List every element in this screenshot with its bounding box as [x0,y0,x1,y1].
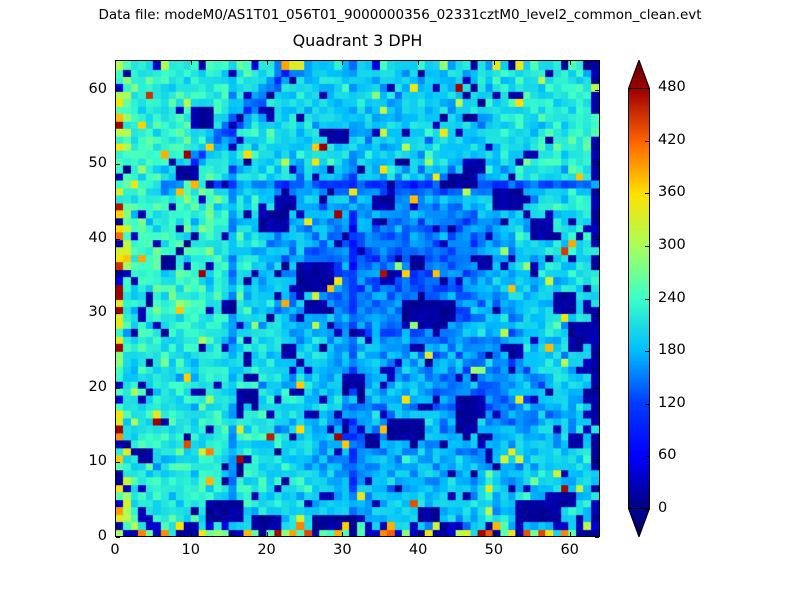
colorbar-tick [645,299,650,300]
colorbar-tick [645,246,650,247]
y-axis-tick-right [595,164,599,165]
x-axis-tick [342,532,343,536]
x-axis-tick-top [570,61,571,65]
colorbar-tick [645,351,650,352]
x-axis-tick-label: 60 [550,543,590,558]
colorbar-tick-label: 420 [658,133,686,148]
y-axis-tick-right [595,90,599,91]
colorbar-tick [645,509,650,510]
y-axis-tick-label: 50 [63,156,107,171]
y-axis-tick [116,164,120,165]
y-axis-tick-right [595,462,599,463]
y-axis-tick [116,462,120,463]
x-axis-tick-label: 10 [171,543,211,558]
x-axis-tick [115,532,116,536]
x-axis-tick-label: 30 [322,543,362,558]
x-axis-tick [494,532,495,536]
y-axis-tick-label: 0 [63,529,107,544]
x-axis-tick-label: 0 [95,543,135,558]
x-axis-tick-top [267,61,268,65]
x-axis-tick-label: 40 [398,543,438,558]
x-axis-tick-top [115,61,116,65]
y-axis-tick-label: 20 [63,380,107,395]
colorbar-tick-label: 0 [658,501,667,516]
colorbar-tick [645,404,650,405]
y-axis-tick-label: 10 [63,454,107,469]
y-axis-tick [116,537,120,538]
colorbar-tick [645,456,650,457]
heatmap-axes[interactable] [115,60,600,537]
colorbar-tick [645,193,650,194]
x-axis-tick [418,532,419,536]
colorbar-tick [645,141,650,142]
y-axis-tick [116,388,120,389]
y-axis-tick-right [595,537,599,538]
x-axis-tick [267,532,268,536]
y-axis-tick-right [595,313,599,314]
x-axis-tick [191,532,192,536]
colorbar-tick [645,88,650,89]
colorbar[interactable]: 060120180240300360420480 [628,60,650,537]
x-axis-tick-label: 20 [247,543,287,558]
y-axis-tick-right [595,239,599,240]
colorbar-tick-label: 360 [658,185,686,200]
x-axis-tick-label: 50 [474,543,514,558]
colorbar-tick-label: 120 [658,396,686,411]
y-axis-tick-label: 40 [63,231,107,246]
heatmap-image[interactable] [116,61,599,536]
x-axis-tick-top [418,61,419,65]
y-axis-tick [116,90,120,91]
y-axis-tick [116,239,120,240]
y-axis-tick-label: 60 [63,82,107,97]
data-file-label: Data file: modeM0/AS1T01_056T01_90000003… [0,6,800,24]
figure-canvas: Data file: modeM0/AS1T01_056T01_90000003… [0,0,800,600]
colorbar-tick-label: 480 [658,80,686,95]
y-axis-tick-label: 30 [63,305,107,320]
colorbar-tick-label: 240 [658,291,686,306]
x-axis-tick-top [191,61,192,65]
x-axis-tick [570,532,571,536]
colorbar-extend-high-arrow-icon [628,60,650,89]
y-axis-tick [116,313,120,314]
page-title: Quadrant 3 DPH [115,31,600,51]
colorbar-tick-label: 60 [658,448,676,463]
x-axis-tick-top [342,61,343,65]
y-axis-tick-right [595,388,599,389]
colorbar-tick-label: 180 [658,343,686,358]
colorbar-extend-low-arrow-icon [628,508,650,537]
colorbar-tick-label: 300 [658,238,686,253]
x-axis-tick-top [494,61,495,65]
